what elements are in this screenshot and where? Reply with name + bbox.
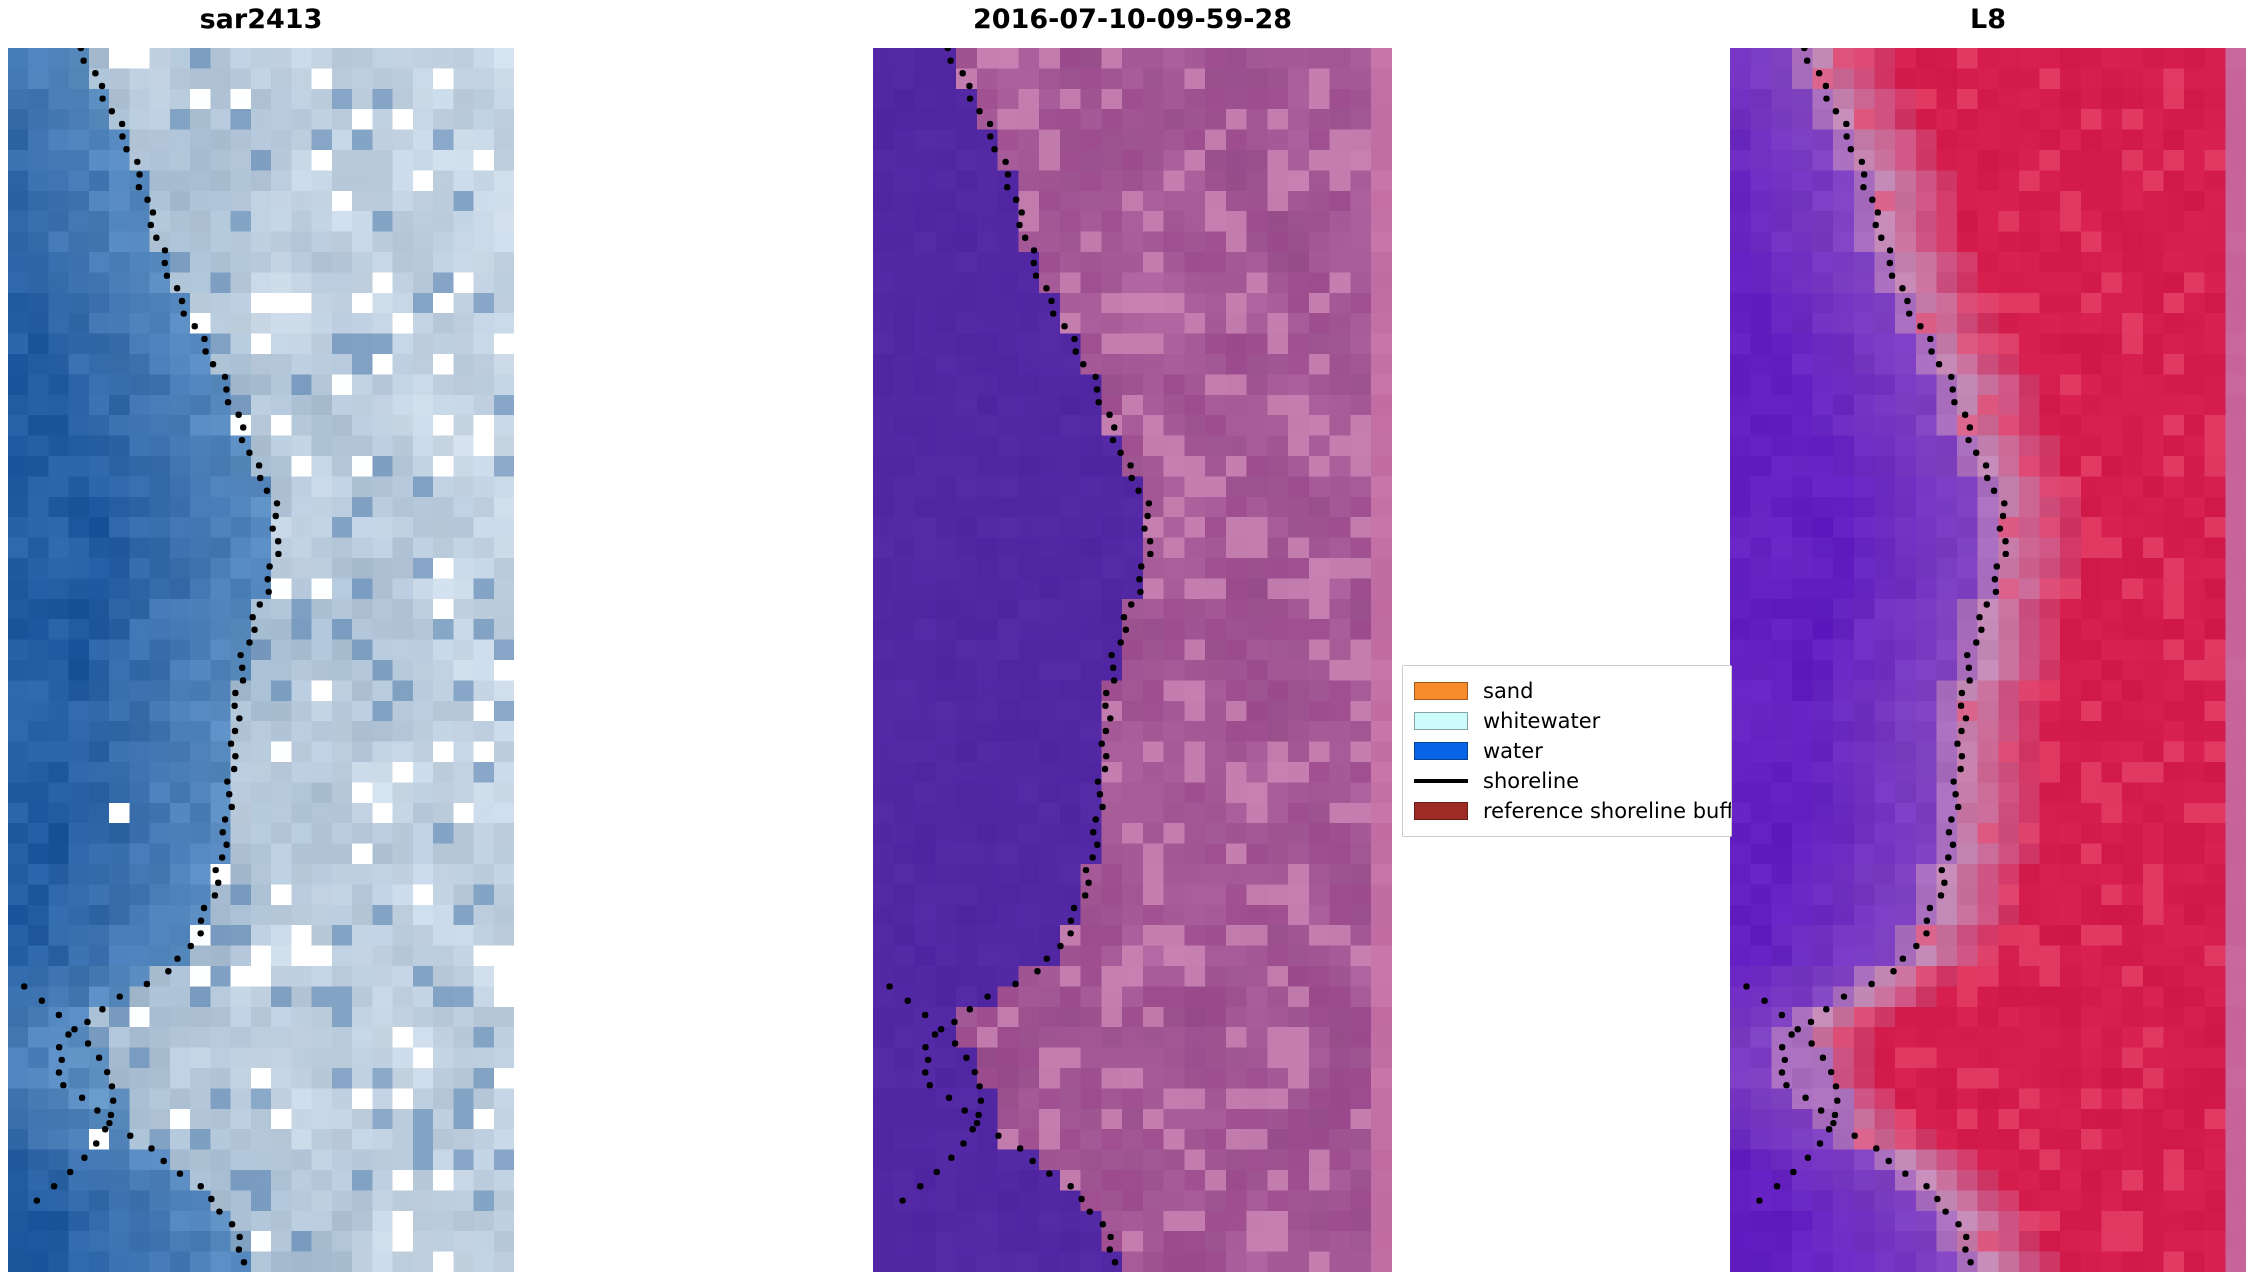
legend-item-water[interactable]: water — [1413, 736, 1719, 766]
legend-swatch-shoreline-icon — [1413, 779, 1469, 783]
legend-item-reference-shoreline-buffer[interactable]: reference shoreline buffer — [1413, 796, 1719, 826]
sar-panel[interactable]: sar2413 — [8, 48, 514, 1272]
legend-swatch-sand-icon — [1413, 682, 1469, 700]
legend-label: whitewater — [1483, 711, 1600, 732]
legend-item-sand[interactable]: sand — [1413, 676, 1719, 706]
figure-canvas: sar2413 2016-07-10-09-59-28 L8 sandwhite… — [0, 0, 2263, 1283]
swatch-mark — [1414, 802, 1468, 820]
legend-box[interactable]: sandwhitewaterwatershorelinereference sh… — [1402, 665, 1732, 837]
legend-item-shoreline[interactable]: shoreline — [1413, 766, 1719, 796]
classification-panel-image[interactable] — [873, 48, 1392, 1272]
legend-swatch-reference-shoreline-buffer-icon — [1413, 802, 1469, 820]
shoreline-overlay — [873, 48, 1392, 1272]
legend-swatch-water-icon — [1413, 742, 1469, 760]
classification-panel-title: 2016-07-10-09-59-28 — [873, 4, 1392, 35]
l8-panel-title: L8 — [1730, 4, 2246, 35]
swatch-mark — [1414, 742, 1468, 760]
classification-panel[interactable]: 2016-07-10-09-59-28 — [873, 48, 1392, 1272]
legend-label: reference shoreline buffer — [1483, 801, 1732, 822]
legend-label: sand — [1483, 681, 1533, 702]
sar-panel-title: sar2413 — [8, 4, 514, 35]
l8-panel-image[interactable] — [1730, 48, 2246, 1272]
swatch-mark — [1414, 712, 1468, 730]
swatch-mark — [1414, 779, 1468, 783]
shoreline-overlay — [1730, 48, 2246, 1272]
shoreline-overlay — [8, 48, 514, 1272]
legend-swatch-whitewater-icon — [1413, 712, 1469, 730]
l8-panel[interactable]: L8 — [1730, 48, 2246, 1272]
legend-label: shoreline — [1483, 771, 1579, 792]
sar-panel-image[interactable] — [8, 48, 514, 1272]
legend-label: water — [1483, 741, 1543, 762]
legend-item-whitewater[interactable]: whitewater — [1413, 706, 1719, 736]
swatch-mark — [1414, 682, 1468, 700]
